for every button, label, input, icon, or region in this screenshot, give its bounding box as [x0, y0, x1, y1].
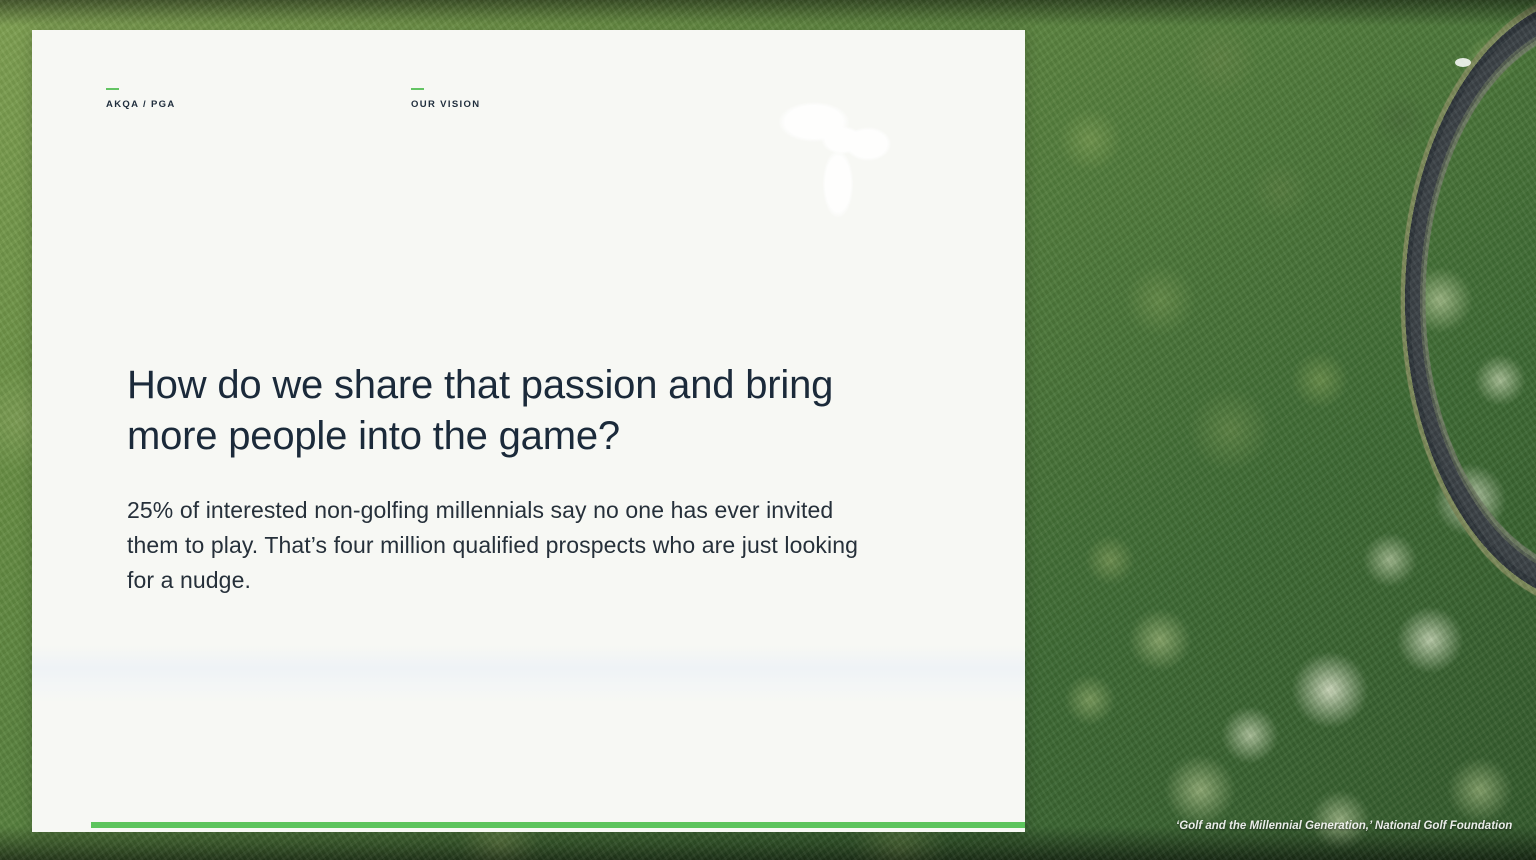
slide-body-copy: 25% of interested non-golfing millennial… [127, 493, 867, 599]
slide-headline: How do we share that passion and bring m… [127, 360, 917, 462]
accent-rule [91, 822, 1025, 828]
source-footnote: ‘Golf and the Millennial Generation,’ Na… [1176, 820, 1512, 832]
fairway-watermark-icon [772, 92, 922, 232]
content-card: AKQA / PGA OUR VISION How do we share th… [32, 30, 1025, 832]
dash-icon [106, 88, 119, 90]
photo-marker-icon [1455, 58, 1471, 67]
eyebrow-our-vision: OUR VISION [411, 88, 716, 110]
tonal-band [32, 645, 1025, 703]
presentation-slide: ‘Golf and the Millennial Generation,’ Na… [0, 0, 1536, 860]
eyebrow-akqa-pga: AKQA / PGA [106, 88, 411, 110]
eyebrow-row: AKQA / PGA OUR VISION [106, 88, 716, 110]
dash-icon [411, 88, 424, 90]
eyebrow-label-section: OUR VISION [411, 99, 716, 110]
eyebrow-label-client: AKQA / PGA [106, 99, 411, 110]
